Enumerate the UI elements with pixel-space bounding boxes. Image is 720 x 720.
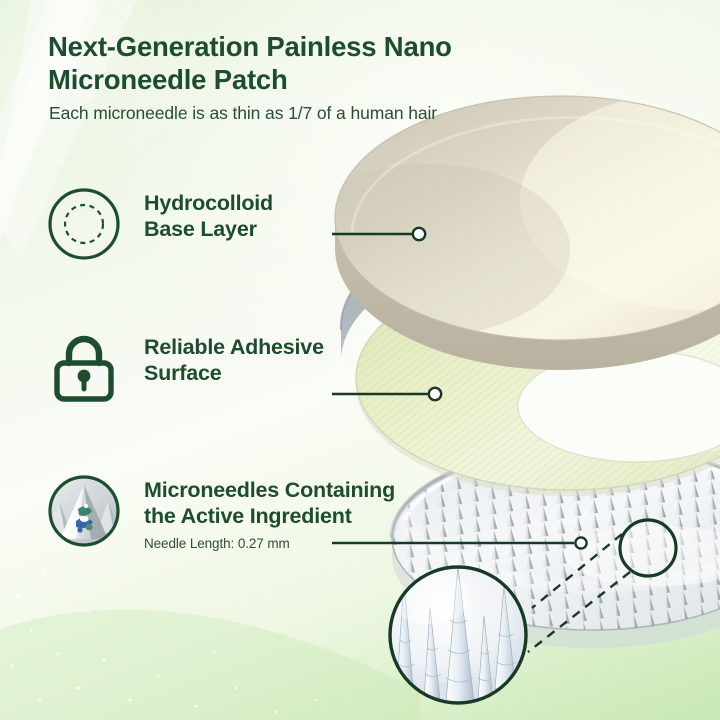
feature-text-group: Microneedles Containing the Active Ingre… — [144, 473, 395, 551]
feature-hydrocolloid-base-layer: Hydrocolloid Base Layer — [46, 186, 273, 262]
infographic-canvas: Next-Generation Painless Nano Microneedl… — [0, 0, 720, 720]
feature-title: Reliable Adhesive Surface — [144, 334, 324, 386]
feature-microneedles-active-ingredient: Microneedles Containing the Active Ingre… — [46, 473, 395, 551]
layer-hydrocolloid-base — [290, 90, 720, 370]
dashed-circle-icon — [46, 186, 122, 262]
feature-text-group: Reliable Adhesive Surface — [144, 330, 324, 386]
feature-reliable-adhesive-surface: Reliable Adhesive Surface — [46, 330, 324, 406]
microneedle-pyramid-icon — [46, 473, 122, 549]
feature-title: Microneedles Containing the Active Ingre… — [144, 477, 395, 529]
page-subtitle: Each microneedle is as thin as 1/7 of a … — [49, 102, 569, 125]
padlock-icon — [46, 330, 122, 406]
needle-length-label: Needle Length: 0.27 mm — [144, 536, 395, 551]
page-title: Next-Generation Painless Nano Microneedl… — [48, 30, 518, 96]
feature-title: Hydrocolloid Base Layer — [144, 190, 273, 242]
feature-text-group: Hydrocolloid Base Layer — [144, 186, 273, 242]
